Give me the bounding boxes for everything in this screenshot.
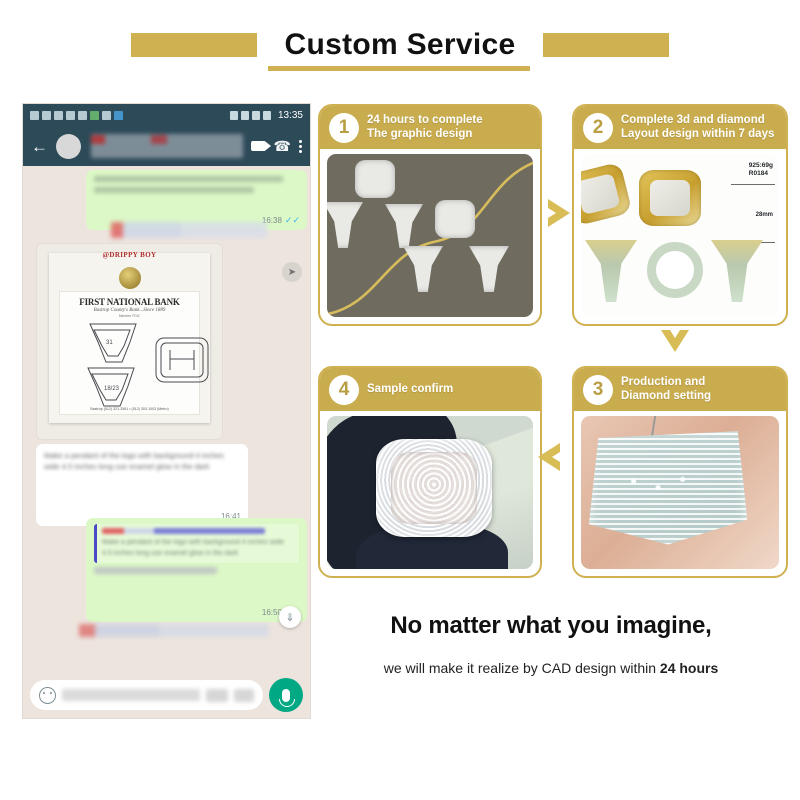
title-bar-left xyxy=(131,33,257,57)
bank-tagline: Bastrop County's Bank...Since 1889 xyxy=(60,308,199,313)
step-1-title: 24 hours to complete The graphic design xyxy=(367,114,483,142)
cad-layout-background: 925:69g R0184 28mm xyxy=(581,154,779,317)
scroll-to-bottom-icon[interactable]: ⇓ xyxy=(279,606,301,628)
step-2-title-line2: Layout design within 7 days xyxy=(621,128,774,142)
poster-root: Custom Service 13:35 ← ☎ xyxy=(0,0,800,800)
cad-spec-weight: 925:69g xyxy=(749,162,773,170)
back-arrow-icon[interactable]: ← xyxy=(31,138,48,155)
emoji-smiley-icon[interactable] xyxy=(39,687,56,704)
lock-icon xyxy=(66,111,75,120)
iced-pendant xyxy=(589,431,747,544)
telegram-icon xyxy=(114,111,123,120)
overflow-menu-icon[interactable] xyxy=(299,140,302,153)
step-3-title-line2: Diamond setting xyxy=(621,390,711,404)
diamond-setting-photo xyxy=(581,416,779,569)
page-title: Custom Service xyxy=(285,28,516,62)
step-number-badge: 2 xyxy=(583,113,613,143)
svg-text:18/23: 18/23 xyxy=(104,386,120,392)
key-icon xyxy=(230,111,238,120)
footer-sub-highlight: 24 hours xyxy=(660,660,718,676)
wifi-icon xyxy=(54,111,63,120)
microphone-icon[interactable] xyxy=(269,678,303,712)
step-3-artwork xyxy=(581,416,779,569)
title-bar-right xyxy=(543,33,669,57)
blurred-reply-text xyxy=(94,567,217,574)
message-input-placeholder[interactable] xyxy=(62,689,200,701)
forward-icon[interactable]: ➤ xyxy=(282,262,302,282)
chat-image-message[interactable]: @DRIPPY BOY FIRST NATIONAL BANK Bastrop … xyxy=(36,243,223,440)
blurred-sender-line xyxy=(111,222,267,238)
script-letters xyxy=(614,465,712,506)
attachment-icon xyxy=(102,111,111,120)
status-bar-clock: 13:35 xyxy=(278,110,303,121)
message-input[interactable] xyxy=(30,680,263,710)
bank-name: FIRST NATIONAL BANK xyxy=(60,297,199,307)
blurred-message-tail xyxy=(79,624,269,637)
phone-call-icon[interactable]: ☎ xyxy=(274,138,291,155)
dimension-line-top xyxy=(731,184,775,185)
step-4-header: 4 Sample confirm xyxy=(320,368,540,411)
ring-sketches: 31 18/23 xyxy=(60,316,220,416)
mail-icon xyxy=(30,111,39,120)
footer-tagline: No matter what you imagine, xyxy=(318,612,784,640)
title-underline xyxy=(268,66,530,71)
step-2-title: Complete 3d and diamond Layout design wi… xyxy=(621,114,774,142)
footer-sub-prefix: we will make it realize by CAD design wi… xyxy=(384,660,660,676)
attach-clip-icon[interactable] xyxy=(206,689,228,702)
photo-notepad: @DRIPPY BOY FIRST NATIONAL BANK Bastrop … xyxy=(49,253,210,423)
process-steps: 1 24 hours to complete The graphic desig… xyxy=(318,104,784,574)
quoted-text: Make a pendant of the logo with backgrou… xyxy=(102,538,294,559)
chat-message-list[interactable]: 16:38✓✓ @DRIPPY BOY FIRST NATIONAL BANK … xyxy=(23,166,310,718)
step-1-artwork xyxy=(327,154,533,317)
signal-icon xyxy=(42,111,51,120)
bank-seal-icon xyxy=(119,267,141,289)
page-title-row: Custom Service xyxy=(0,22,800,68)
vibrate-icon xyxy=(252,111,260,120)
photo-overlay-title: @DRIPPY BOY xyxy=(49,251,210,259)
finished-diamond-ring xyxy=(376,439,491,537)
cad-ring-band-view xyxy=(647,242,703,298)
step-number-badge: 3 xyxy=(583,375,613,405)
footer-subline: we will make it realize by CAD design wi… xyxy=(318,660,784,676)
step-4-artwork xyxy=(327,416,533,569)
cad-ring-side-right xyxy=(711,240,763,302)
chevron-right-arrow xyxy=(544,196,574,230)
cad-spec-annotation: 925:69g R0184 xyxy=(749,162,773,178)
step-2-title-line1: Complete 3d and diamond xyxy=(621,114,774,128)
step-3-header: 3 Production and Diamond setting xyxy=(574,368,786,411)
bank-footer: Bastrop (512) 321-2561 • (512) 303-1003 … xyxy=(60,407,199,411)
step-1-title-line2: The graphic design xyxy=(367,128,483,142)
step-3-title: Production and Diamond setting xyxy=(621,376,711,404)
whatsapp-icon xyxy=(90,111,99,120)
chat-bubble-incoming: Make a pendant of the logo with backgrou… xyxy=(36,444,248,526)
ring-render-square-2 xyxy=(435,200,475,238)
message-text: Make a pendant of the logo with backgrou… xyxy=(44,450,240,473)
camera-icon[interactable] xyxy=(234,689,254,702)
quoted-sender-blurred xyxy=(102,528,265,534)
step-card-3: 3 Production and Diamond setting xyxy=(572,366,788,578)
cad-ring-perspective xyxy=(581,162,632,226)
cad-ring-top-view xyxy=(639,170,701,226)
avatar[interactable] xyxy=(56,134,81,159)
chevron-left-arrow xyxy=(534,440,564,474)
step-number-badge: 1 xyxy=(329,113,359,143)
cad-ring-side-left xyxy=(585,240,637,302)
chat-input-bar[interactable] xyxy=(23,672,310,718)
chat-header: ← ☎ xyxy=(23,126,310,166)
video-call-icon[interactable] xyxy=(251,141,266,151)
svg-text:31: 31 xyxy=(106,340,113,346)
step-card-1: 1 24 hours to complete The graphic desig… xyxy=(318,104,542,326)
read-receipt-icon: ✓✓ xyxy=(285,214,300,227)
finished-ring-photo xyxy=(327,416,533,569)
message-timestamp: 16:38✓✓ xyxy=(262,214,300,227)
battery-icon xyxy=(263,111,271,120)
step-3-title-line1: Production and xyxy=(621,376,711,390)
contact-name-blurred[interactable] xyxy=(91,134,243,158)
cad-spec-model: R0184 xyxy=(749,170,773,178)
step-card-4: 4 Sample confirm xyxy=(318,366,542,578)
step-1-header: 1 24 hours to complete The graphic desig… xyxy=(320,106,540,149)
bank-letterhead: FIRST NATIONAL BANK Bastrop County's Ban… xyxy=(59,291,200,415)
message-icon xyxy=(78,111,87,120)
step-2-artwork: 925:69g R0184 28mm xyxy=(581,154,779,317)
chat-bubble-outgoing: 16:38✓✓ xyxy=(86,170,307,230)
cad-dimension-label: 28mm xyxy=(756,212,773,218)
blurred-text xyxy=(94,176,299,193)
step-4-title-line1: Sample confirm xyxy=(367,383,453,397)
ring-render-square-1 xyxy=(355,160,395,198)
step-card-2: 2 Complete 3d and diamond Layout design … xyxy=(572,104,788,326)
step-2-header: 2 Complete 3d and diamond Layout design … xyxy=(574,106,786,149)
alarm-icon xyxy=(241,111,249,120)
step-number-badge: 4 xyxy=(329,375,359,405)
quoted-message: Make a pendant of the logo with backgrou… xyxy=(94,524,299,563)
whatsapp-screenshot: 13:35 ← ☎ 16:38✓✓ xyxy=(23,104,310,718)
cad-render-background xyxy=(327,154,533,317)
step-4-title: Sample confirm xyxy=(367,383,453,397)
chevron-down-arrow xyxy=(658,326,692,356)
phone-status-bar: 13:35 xyxy=(23,104,310,126)
chat-bubble-outgoing-quoted: Make a pendant of the logo with backgrou… xyxy=(86,518,307,622)
step-1-title-line1: 24 hours to complete xyxy=(367,114,483,128)
